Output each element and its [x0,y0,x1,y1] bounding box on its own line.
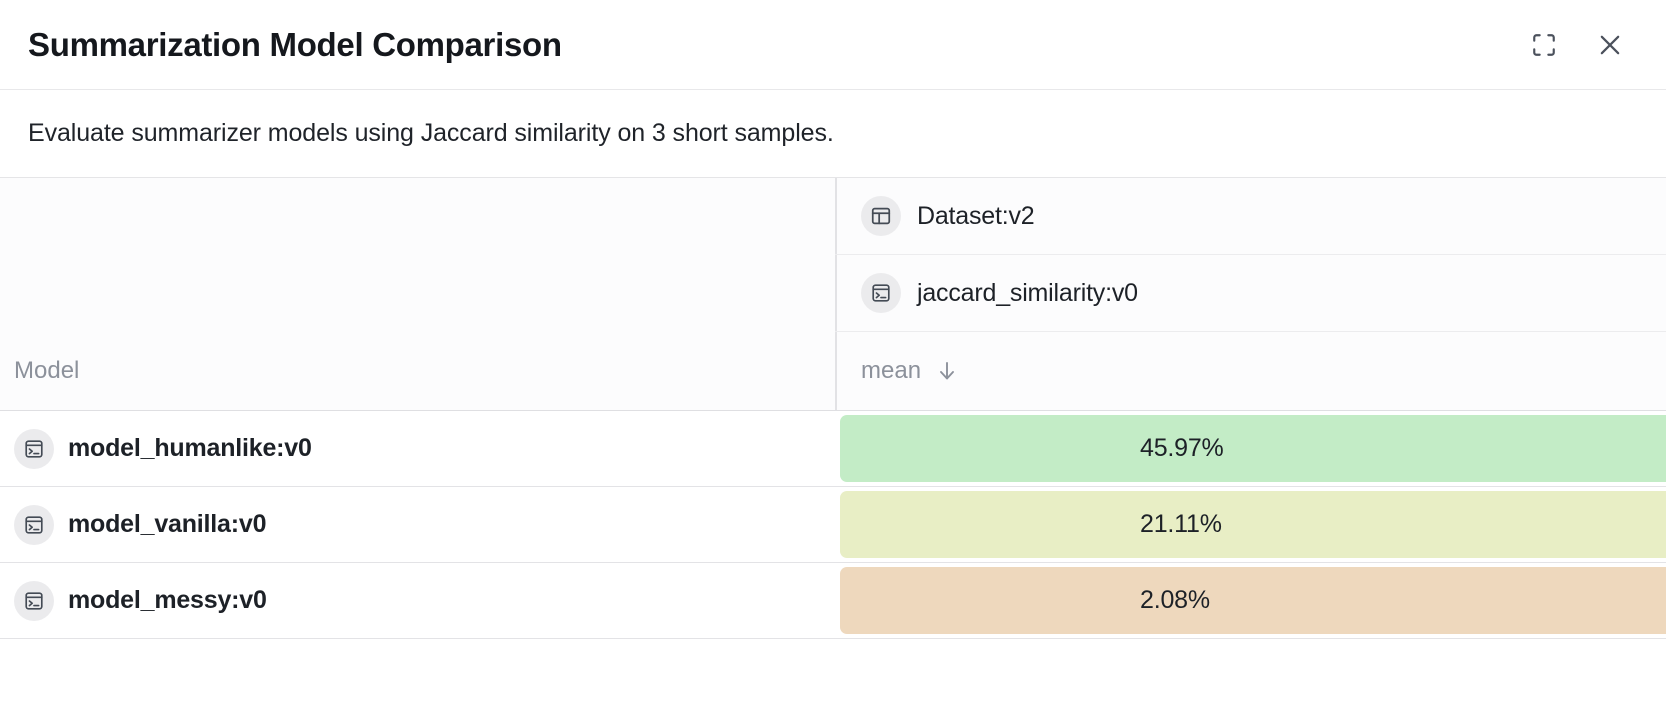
close-icon [1596,31,1624,59]
arrow-down-icon[interactable] [935,359,959,383]
page-title: Summarization Model Comparison [28,26,562,64]
score-bar: 45.97% [840,415,1666,482]
header-actions [1524,25,1644,65]
terminal-icon [14,581,54,621]
model-cell[interactable]: model_humanlike:v0 [0,411,835,487]
dataset-label: Dataset:v2 [917,202,1035,231]
description-text: Evaluate summarizer models using Jaccard… [28,119,834,148]
score-cell[interactable]: 21.11% [835,487,1666,563]
score-value: 2.08% [1140,586,1210,615]
table-row[interactable]: model_messy:v0 2.08% [0,563,1666,639]
table-row[interactable]: model_humanlike:v0 45.97% [0,411,1666,487]
comparison-table-wrap: Dataset:v2 [0,178,1666,712]
table-group-row-metric: jaccard_similarity:v0 [0,255,1666,332]
score-cell[interactable]: 2.08% [835,563,1666,639]
score-value: 45.97% [1140,434,1224,463]
close-button[interactable] [1590,25,1630,65]
model-name: model_humanlike:v0 [68,434,312,463]
table-group-row-dataset: Dataset:v2 [0,178,1666,255]
score-bar: 2.08% [840,567,1666,634]
mean-column-header-cell[interactable]: mean [835,332,1666,411]
expand-icon [1531,32,1557,58]
model-column-header-cell[interactable]: Model [0,332,835,411]
score-bar: 21.11% [840,491,1666,558]
table-bottom-spacer [0,639,1666,699]
table-column-header-row: Model mean [0,332,1666,411]
score-value: 21.11% [1140,510,1222,539]
model-name: model_messy:v0 [68,586,267,615]
terminal-icon [14,505,54,545]
model-cell[interactable]: model_messy:v0 [0,563,835,639]
group-row-spacer [0,178,835,255]
terminal-icon [861,273,901,313]
model-name: model_vanilla:v0 [68,510,266,539]
modal-header: Summarization Model Comparison [0,0,1666,90]
expand-button[interactable] [1524,25,1564,65]
metric-label: jaccard_similarity:v0 [917,279,1138,308]
table-row[interactable]: model_vanilla:v0 21.11% [0,487,1666,563]
model-cell[interactable]: model_vanilla:v0 [0,487,835,563]
terminal-icon [14,429,54,469]
score-cell[interactable]: 45.97% [835,411,1666,487]
comparison-modal: Summarization Model Comparison [0,0,1666,712]
comparison-table: Dataset:v2 [0,178,1666,699]
group-row-spacer-2 [0,255,835,332]
modal-description: Evaluate summarizer models using Jaccard… [0,90,1666,178]
dataset-group-cell[interactable]: Dataset:v2 [835,178,1666,255]
mean-column-label: mean [861,357,921,385]
metric-group-cell[interactable]: jaccard_similarity:v0 [835,255,1666,332]
model-column-label: Model [14,357,79,385]
dataset-table-icon [861,196,901,236]
